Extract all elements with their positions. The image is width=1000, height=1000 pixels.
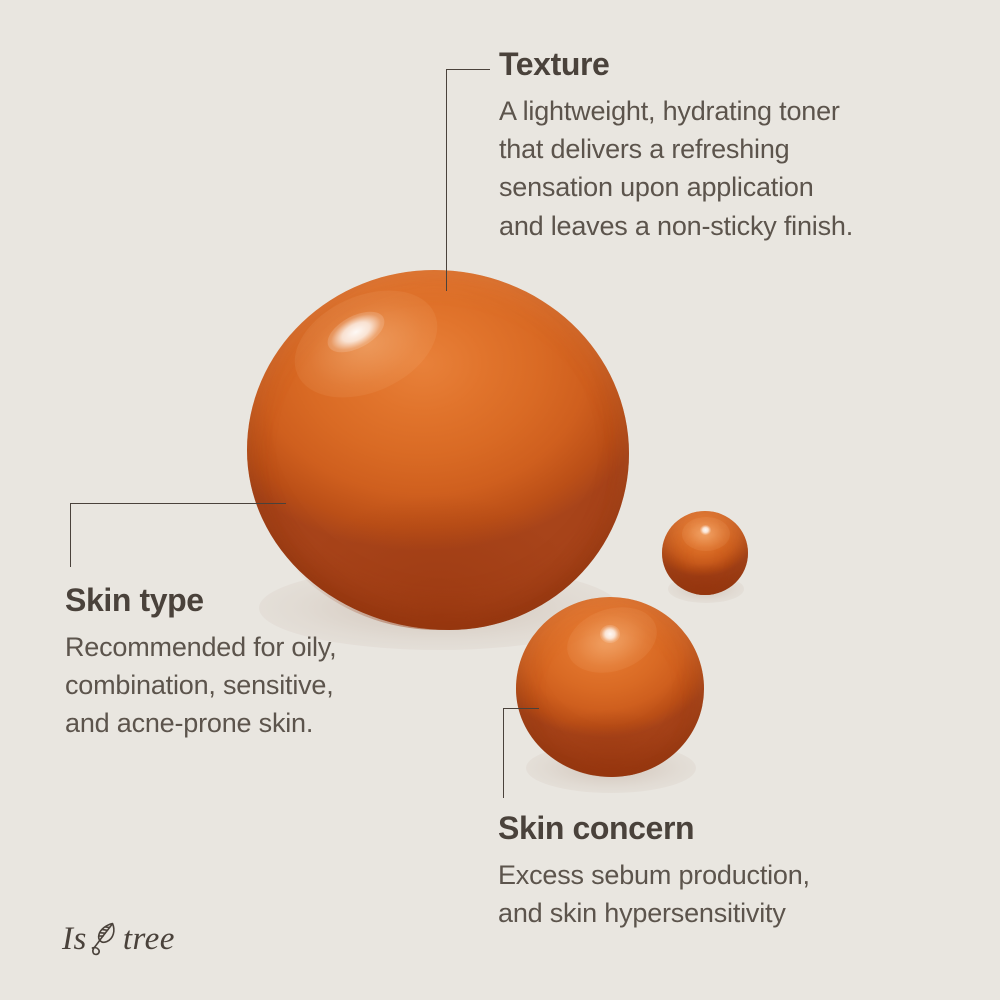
callout-title-texture: Texture	[499, 48, 969, 82]
callout-body-skin-type: Recommended for oily, combination, sensi…	[65, 628, 465, 743]
leader-line-skin-concern-horizontal	[503, 708, 539, 709]
callout-skin-type: Skin type Recommended for oily, combinat…	[65, 584, 465, 743]
callout-body-texture: A lightweight, hydrating toner that deli…	[499, 92, 969, 245]
leader-line-skin-concern-vertical	[503, 708, 504, 798]
droplet-body	[516, 597, 704, 777]
leader-line-skin-type-vertical	[70, 503, 71, 567]
leader-line-skin-type-horizontal	[70, 503, 286, 504]
large-toner-droplet	[247, 270, 629, 630]
medium-toner-droplet	[516, 597, 704, 777]
infographic-canvas: Texture A lightweight, hydrating toner t…	[0, 0, 1000, 1000]
callout-texture: Texture A lightweight, hydrating toner t…	[499, 48, 969, 245]
brand-logo-text-before: Is	[62, 923, 87, 956]
droplet-body	[247, 270, 629, 630]
leader-line-texture-vertical	[446, 69, 447, 291]
droplet-body	[662, 511, 748, 595]
leader-line-texture-horizontal	[446, 69, 490, 70]
callout-body-skin-concern: Excess sebum production, and skin hypers…	[498, 856, 928, 933]
small-toner-droplet	[662, 511, 748, 595]
brand-logo: Is tree	[62, 916, 175, 962]
callout-title-skin-type: Skin type	[65, 584, 465, 618]
leaf-icon	[88, 919, 122, 959]
brand-logo-text-after: tree	[123, 923, 175, 956]
callout-skin-concern: Skin concern Excess sebum production, an…	[498, 812, 928, 932]
callout-title-skin-concern: Skin concern	[498, 812, 928, 846]
